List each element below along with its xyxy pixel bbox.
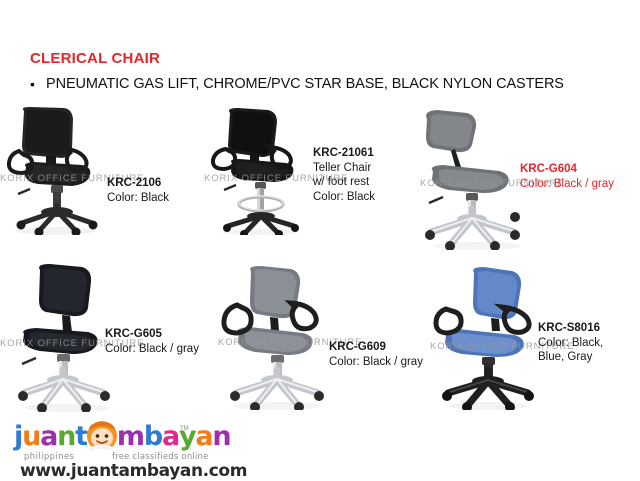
logo-letter-j: j xyxy=(14,422,22,452)
product-color-3: Color: Black / gray xyxy=(105,342,199,357)
product-label-5: KRC-S8016 Color: Black, Blue, Gray xyxy=(538,321,603,365)
product-card-0[interactable]: KORIX OFFICE FURNITURE KRC-2106 Color: B… xyxy=(0,105,215,235)
logo-letter-a3: a xyxy=(195,422,212,452)
logo-letter-n2: n xyxy=(212,422,230,452)
page-title: CLERICAL CHAIR xyxy=(30,50,160,67)
product-photo-4 xyxy=(215,265,340,410)
product-label-2: KRC-G604 Color: Black / gray xyxy=(520,162,614,191)
product-feature-1: w/ foot rest xyxy=(313,175,375,190)
product-photo-0 xyxy=(0,105,110,235)
site-url[interactable]: www.juantambayan.com xyxy=(20,461,247,481)
header-bullet-text: PNEUMATIC GAS LIFT, CHROME/PVC STAR BASE… xyxy=(46,75,564,93)
logo-letter-b: b xyxy=(144,422,162,452)
product-card-4[interactable]: KORIX OFFICE FURNITURE KRC-G609 Color: B… xyxy=(215,265,440,410)
product-photo-5 xyxy=(430,265,545,410)
product-color-1: Color: Black xyxy=(313,190,375,205)
chair-illustration-0 xyxy=(0,105,110,235)
logo-letter-a: a xyxy=(40,422,57,452)
product-code-4: KRC-G609 xyxy=(329,340,423,355)
product-label-1: KRC-21061 Teller Chair w/ foot rest Colo… xyxy=(313,146,375,204)
product-photo-1 xyxy=(200,105,315,235)
product-code-0: KRC-2106 xyxy=(107,176,169,191)
product-label-4: KRC-G609 Color: Black / gray xyxy=(329,340,423,369)
product-type-1: Teller Chair xyxy=(313,161,375,176)
header-bullet: • PNEUMATIC GAS LIFT, CHROME/PVC STAR BA… xyxy=(30,75,564,93)
logo-trademark: TM xyxy=(180,426,189,433)
product-label-3: KRC-G605 Color: Black / gray xyxy=(105,327,199,356)
chair-illustration-5 xyxy=(430,265,545,410)
chair-illustration-1 xyxy=(200,105,315,235)
chair-illustration-4 xyxy=(215,265,340,410)
product-color-5b: Blue, Gray xyxy=(538,350,603,365)
logo-letter-m: m xyxy=(117,422,144,452)
logo-letter-u: u xyxy=(22,422,40,452)
product-code-3: KRC-G605 xyxy=(105,327,199,342)
product-color-0: Color: Black xyxy=(107,191,169,206)
product-card-1[interactable]: KORIX OFFICE FURNITURE KRC-21061 Teller … xyxy=(200,105,415,235)
product-color-2: Color: Black / gray xyxy=(520,177,614,192)
product-code-5: KRC-S8016 xyxy=(538,321,603,336)
product-color-4: Color: Black / gray xyxy=(329,355,423,370)
product-card-2[interactable]: KORIX OFFICE FURNITURE KRC-G604 Color: B… xyxy=(415,105,640,250)
logo-wordmark: juantmbayan xyxy=(14,422,230,452)
product-card-5[interactable]: KORIX OFFICE FURNITURE KRC-S8016 Color: … xyxy=(430,265,640,410)
logo-letter-n: n xyxy=(57,422,75,452)
product-code-2: KRC-G604 xyxy=(520,162,614,177)
product-code-1: KRC-21061 xyxy=(313,146,375,161)
product-card-3[interactable]: KORIX OFFICE FURNITURE KRC-G605 Color: B… xyxy=(10,262,225,412)
site-logo[interactable]: juantmbayan TM philippines free classifi… xyxy=(12,420,232,476)
bullet-marker-icon: • xyxy=(30,75,46,93)
product-color-5a: Color: Black, xyxy=(538,336,603,351)
mascot-icon xyxy=(85,419,119,453)
product-label-0: KRC-2106 Color: Black xyxy=(107,176,169,205)
logo-letter-a2: a xyxy=(162,422,179,452)
